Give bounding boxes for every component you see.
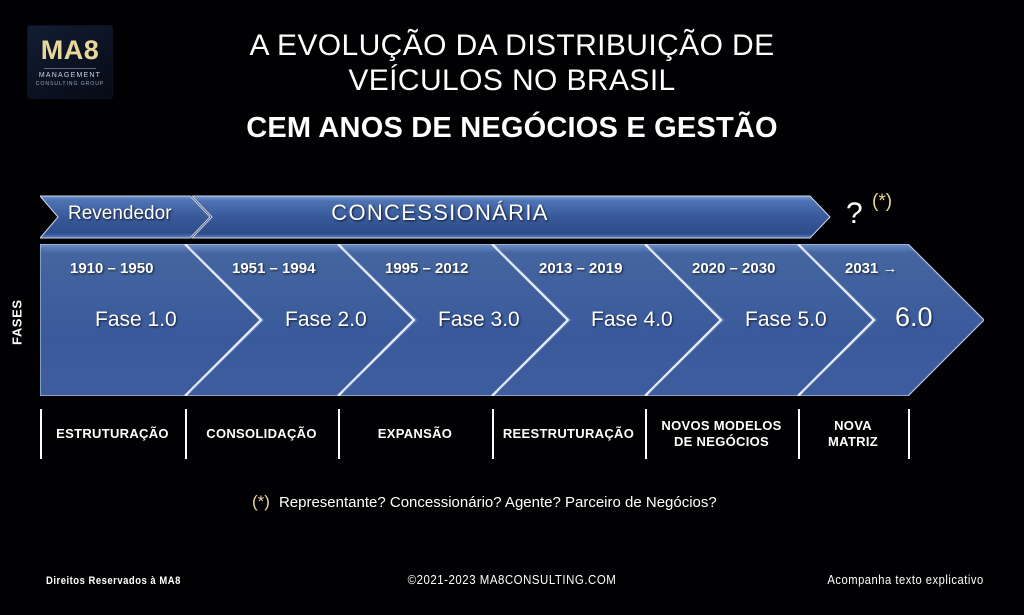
phase-caption-2: CONSOLIDAÇÃO <box>185 403 338 465</box>
phase-caption-row: ESTRUTURAÇÃO CONSOLIDAÇÃO EXPANSÃO REEST… <box>40 403 920 465</box>
role-bar: Revendedor CONCESSIONÁRIA <box>40 194 840 240</box>
phase-name-4: Fase 4.0 <box>591 308 673 332</box>
phase-name-5: Fase 5.0 <box>745 308 827 332</box>
phase-year-1: 1910 – 1950 <box>70 260 153 277</box>
role-bar-shapes <box>40 194 840 240</box>
axis-label-fases: FASES <box>6 282 28 362</box>
phase-year-3: 1995 – 2012 <box>385 260 468 277</box>
phase-name-1: Fase 1.0 <box>95 308 177 332</box>
phase-caption-4: REESTRUTURAÇÃO <box>492 403 645 465</box>
phase-year-2: 1951 – 1994 <box>232 260 315 277</box>
caption-divider-6 <box>908 409 910 459</box>
phase-caption-6-line-1: NOVA <box>834 418 872 433</box>
phase-year-5: 2020 – 2030 <box>692 260 775 277</box>
page-subtitle: CEM ANOS DE NEGÓCIOS E GESTÃO <box>0 112 1024 145</box>
phase-year-6: 2031 → <box>845 260 898 277</box>
page-title-line-1: A EVOLUÇÃO DA DISTRIBUIÇÃO DE <box>0 28 1024 63</box>
asterisk-marker: (*) <box>872 191 892 213</box>
phase-caption-1: ESTRUTURAÇÃO <box>40 403 185 465</box>
role-chevron-reseller <box>40 196 210 238</box>
footnote-text: Representante? Concessionário? Agente? P… <box>279 494 717 511</box>
phase-name-3: Fase 3.0 <box>438 308 520 332</box>
phase-name-2: Fase 2.0 <box>285 308 367 332</box>
footer-note: Acompanha texto explicativo <box>828 572 984 587</box>
phase-year-4: 2013 – 2019 <box>539 260 622 277</box>
phase-caption-6-line-2: MATRIZ <box>828 434 878 449</box>
footnote: (*) Representante? Concessionário? Agent… <box>252 492 717 512</box>
phase-chevron-band: 1910 – 1950 Fase 1.0 1951 – 1994 Fase 2.… <box>40 244 984 396</box>
phase-caption-5-line-2: DE NEGÓCIOS <box>674 434 769 449</box>
phase-caption-3: EXPANSÃO <box>338 403 492 465</box>
phase-caption-5: NOVOS MODELOS DE NEGÓCIOS <box>645 403 798 465</box>
footnote-asterisk: (*) <box>252 492 270 512</box>
page-title: A EVOLUÇÃO DA DISTRIBUIÇÃO DE VEÍCULOS N… <box>0 28 1024 98</box>
role-chevron-dealer <box>192 196 830 238</box>
phase-caption-6: NOVA MATRIZ <box>798 403 908 465</box>
phase-name-6: 6.0 <box>895 302 933 333</box>
page-title-line-2: VEÍCULOS NO BRASIL <box>0 63 1024 98</box>
phase-caption-5-line-1: NOVOS MODELOS <box>661 418 781 433</box>
question-mark: ? <box>846 197 863 231</box>
